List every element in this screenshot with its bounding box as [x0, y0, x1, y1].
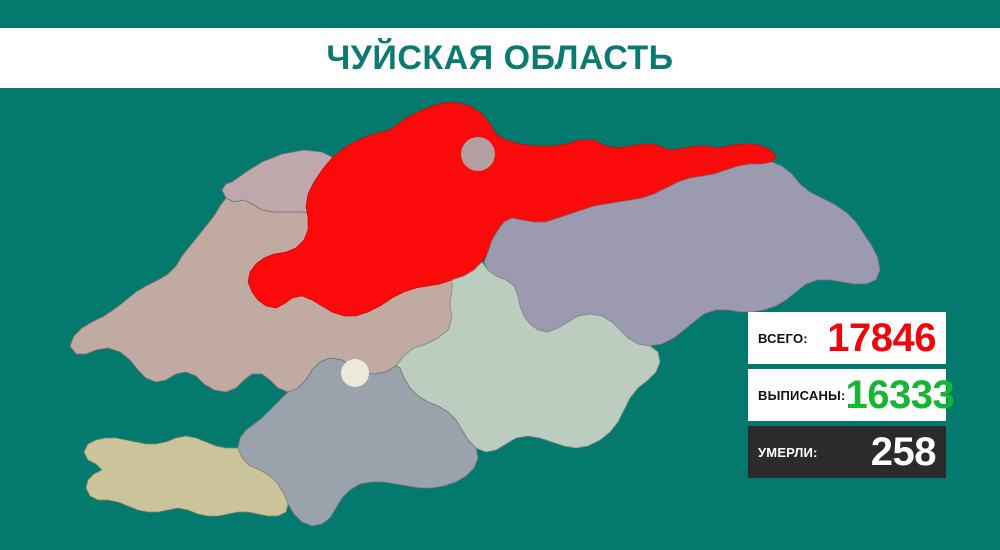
- stat-row-recovered: ВЫПИСАНЫ: 16333: [748, 369, 946, 421]
- top-accent-strip: [0, 0, 1000, 28]
- title-banner: ЧУЙСКАЯ ОБЛАСТЬ: [0, 28, 1000, 88]
- stat-row-total: ВСЕГО: 17846: [748, 312, 946, 364]
- stat-label-total: ВСЕГО:: [758, 332, 808, 345]
- stat-row-deaths: УМЕРЛИ: 258: [748, 426, 946, 478]
- page-title: ЧУЙСКАЯ ОБЛАСТЬ: [326, 41, 673, 75]
- stat-label-recovered: ВЫПИСАНЫ:: [758, 389, 846, 402]
- osh-marker-icon[interactable]: [341, 359, 369, 387]
- stat-value-deaths: 258: [871, 432, 936, 472]
- stats-panel: ВСЕГО: 17846 ВЫПИСАНЫ: 16333 УМЕРЛИ: 258: [748, 312, 946, 478]
- infographic-screen: ЧУЙСКАЯ ОБЛАСТЬ ВСЕГО: 17846: [0, 0, 1000, 550]
- stat-value-total: 17846: [827, 318, 936, 358]
- stat-label-deaths: УМЕРЛИ:: [758, 446, 818, 459]
- stat-value-recovered: 16333: [846, 375, 955, 415]
- bishkek-marker-icon[interactable]: [461, 137, 495, 171]
